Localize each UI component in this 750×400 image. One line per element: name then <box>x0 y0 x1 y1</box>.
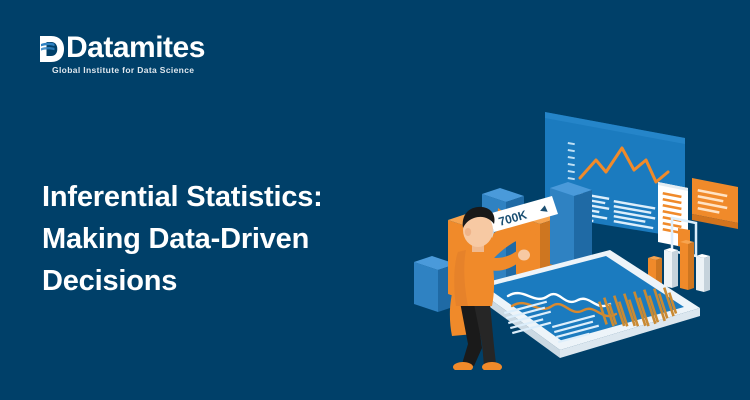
promo-banner: Datamites Global Institute for Data Scie… <box>0 0 750 400</box>
ear <box>465 228 471 236</box>
headline-line-2: Making Data-Driven <box>42 218 422 260</box>
headline-line-3: Decisions <box>42 260 422 302</box>
isometric-scene-svg: 700K <box>400 90 750 370</box>
logo-tagline: Global Institute for Data Science <box>52 65 194 75</box>
orange-card <box>692 178 738 229</box>
datamites-logo[interactable]: Datamites Global Institute for Data Scie… <box>38 32 238 82</box>
logo-wordmark: Datamites <box>40 32 205 64</box>
page-title: Inferential Statistics: Making Data-Driv… <box>42 176 422 302</box>
hero-illustration: 700K <box>400 90 750 370</box>
hand <box>518 250 530 261</box>
headline-line-1: Inferential Statistics: <box>42 176 422 218</box>
